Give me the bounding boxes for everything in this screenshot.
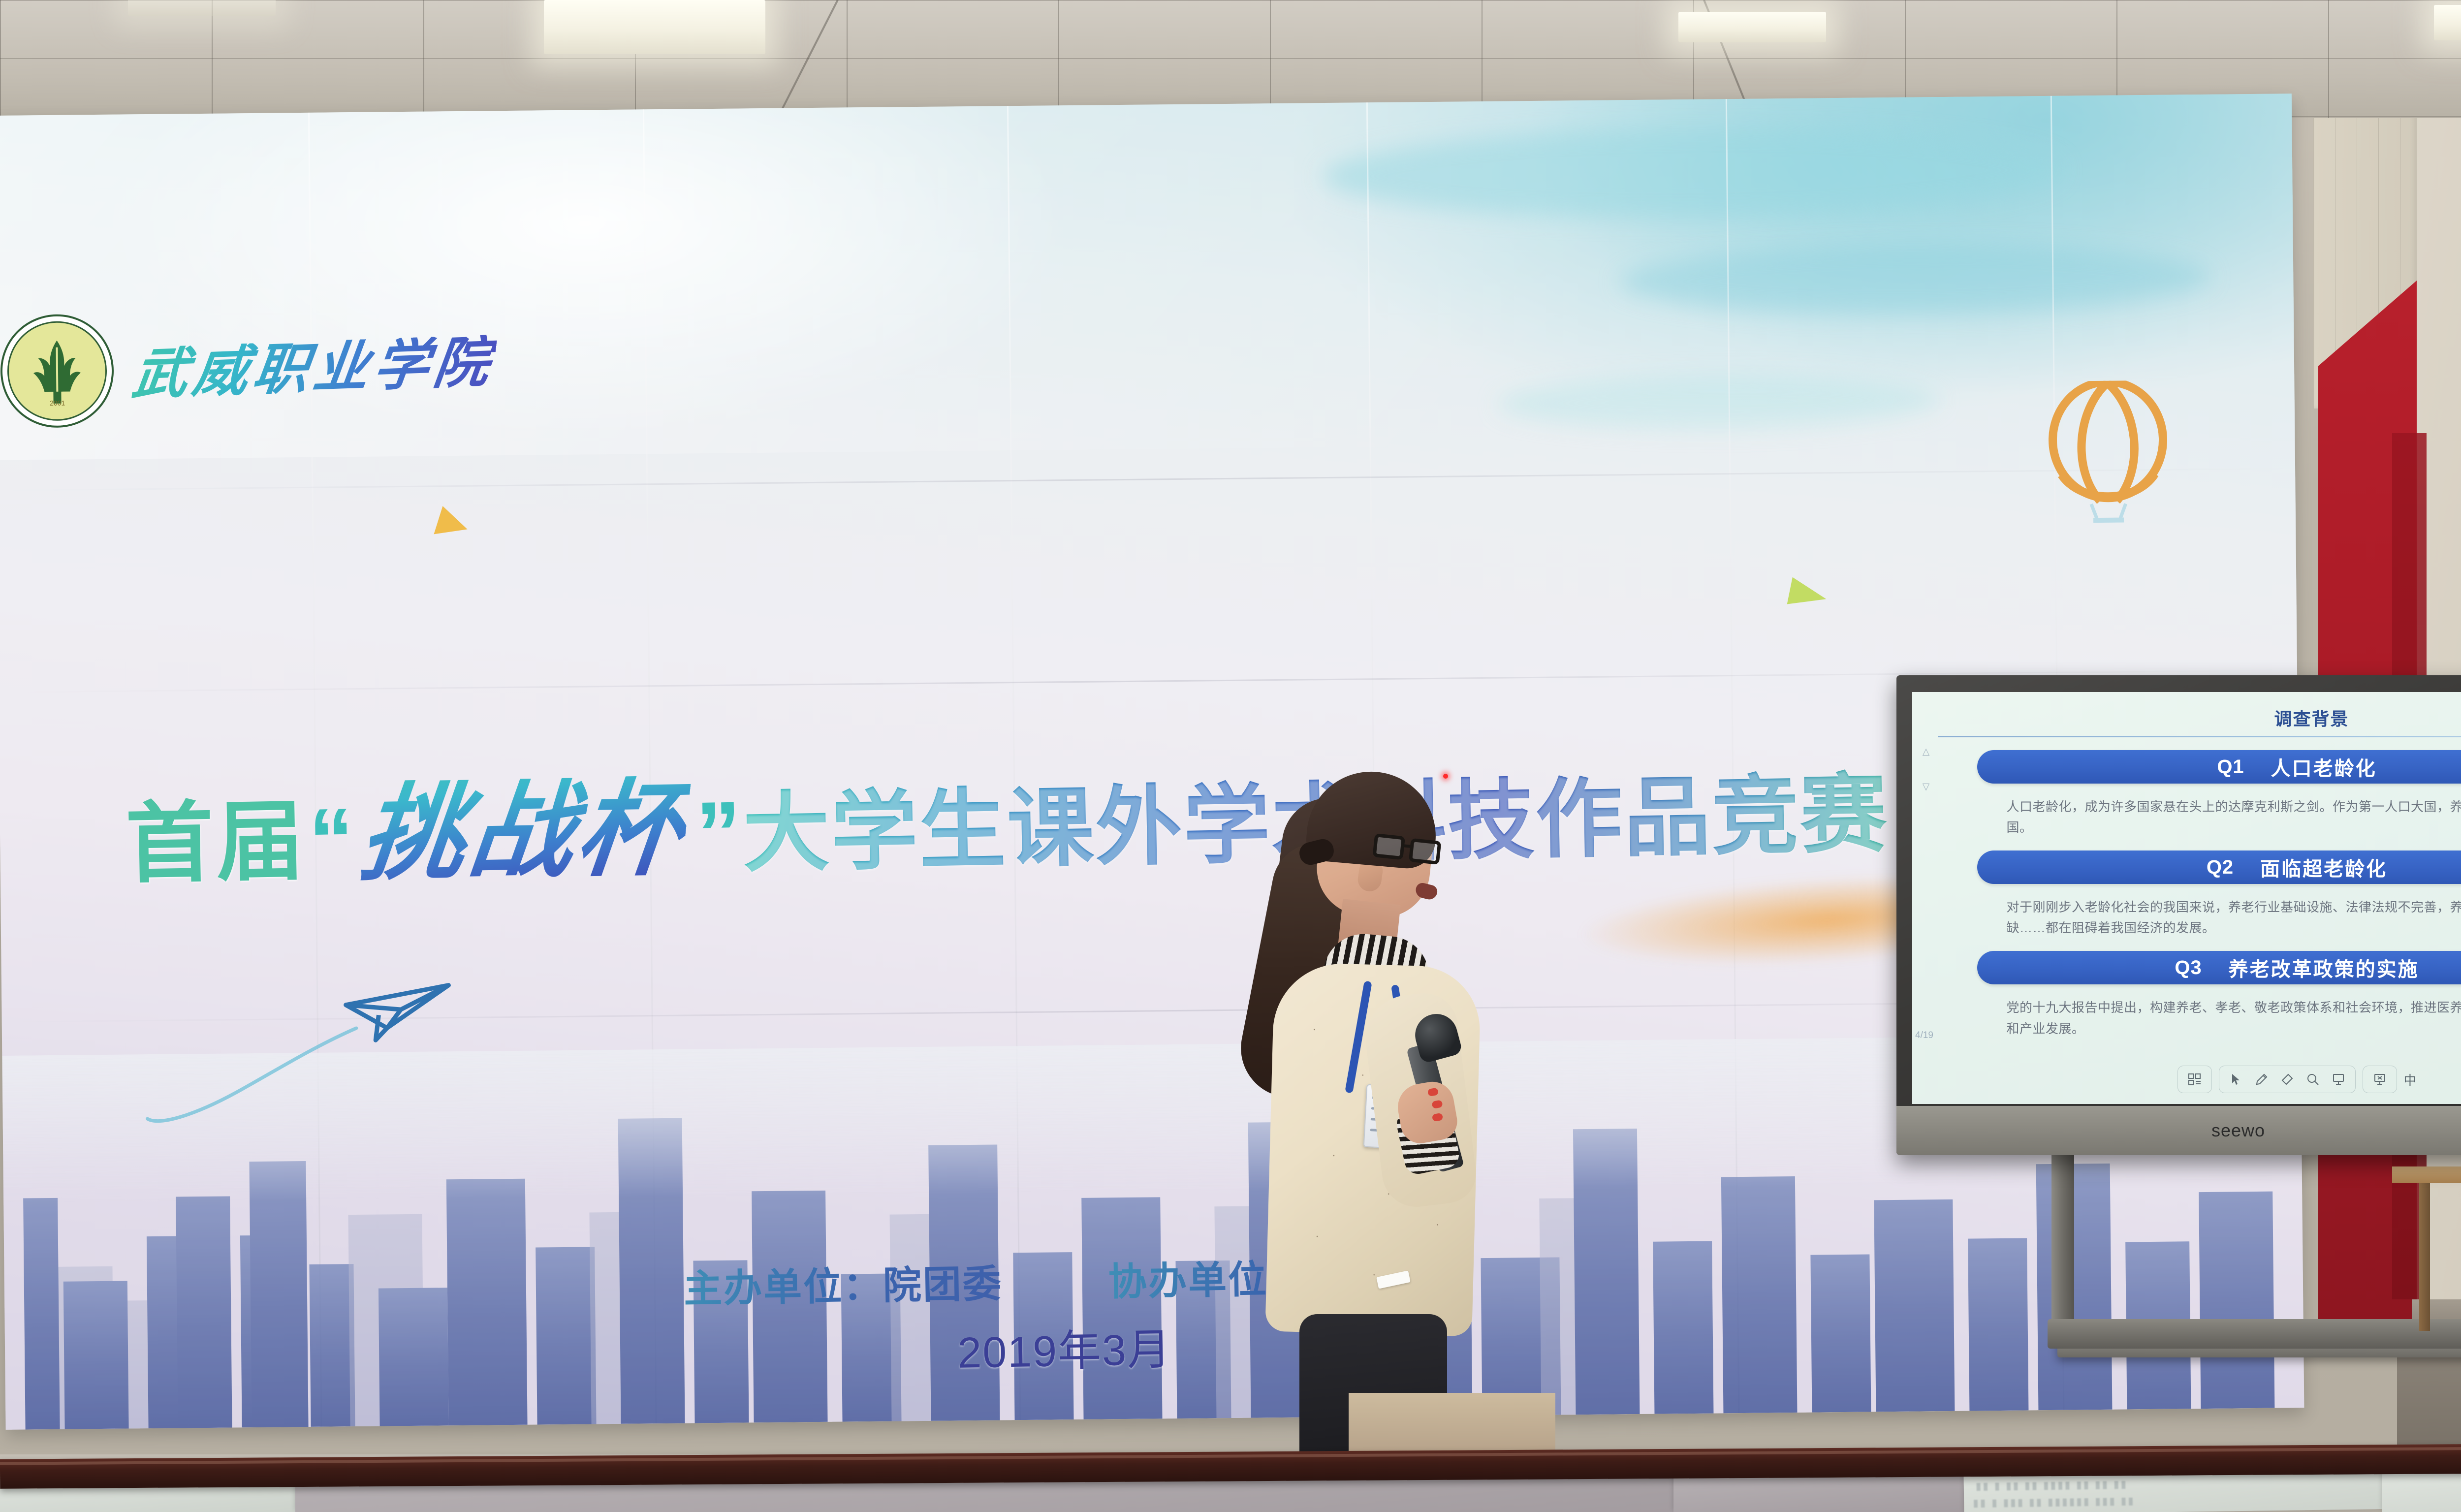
toolbar-exit-group[interactable]: [2362, 1066, 2397, 1093]
banner-title: 首届 “ 挑战杯 ” 大学生课外学术科技作品竞赛: [124, 723, 1889, 905]
slide-block-heading: Q2 面临超老龄化: [1977, 850, 2461, 884]
toolbar-menu-group[interactable]: [2177, 1066, 2211, 1093]
wheat-tree-icon: [27, 336, 87, 406]
magnifier-icon[interactable]: [2302, 1070, 2323, 1089]
banner-date: 2019年3月: [957, 1315, 1172, 1381]
block-number: Q2: [2207, 856, 2234, 879]
slide-page-indicator: 4/19: [1915, 1030, 1933, 1041]
triangle-icon: [434, 506, 472, 543]
slide-block-heading: Q1 人口老龄化: [1977, 750, 2461, 784]
ceiling-light: [128, 0, 276, 16]
hot-air-balloon-icon: [2041, 380, 2175, 524]
block-number: Q3: [2175, 957, 2202, 979]
grid-menu-icon[interactable]: [2183, 1070, 2205, 1089]
display-stand-base: [2048, 1319, 2461, 1349]
display-brand-label: seewo: [2211, 1120, 2265, 1141]
paper-plane-trail-icon: [145, 1020, 377, 1126]
pen-icon[interactable]: [2250, 1070, 2272, 1089]
interactive-display[interactable]: 调查背景 Q1 人口老龄化 人口老龄化，成为许多国家悬在头上的达摩克利斯之剑。作…: [1896, 675, 2461, 1155]
college-seal-icon: 武威职业学院 WUWEI OCCUPATIONAL COLLEGE 2001: [0, 314, 114, 428]
presentation-scene: 武威职业学院 WUWEI OCCUPATIONAL COLLEGE 2001 武…: [0, 0, 2461, 1512]
display-chin: seewo: [1896, 1106, 2461, 1155]
slide-title-underline: [1938, 736, 2461, 737]
laser-pointer-dot: [1443, 774, 1448, 779]
foreground-panel: [2382, 1474, 2461, 1512]
host-organization: 主办单位：院团委: [683, 1253, 1003, 1314]
seal-year: 2001: [3, 399, 112, 408]
eraser-icon[interactable]: [2276, 1070, 2298, 1089]
ceiling-light: [2434, 5, 2461, 40]
ceiling-light: [544, 0, 765, 54]
blurred-text-line: ▮▮ ▮ ▮▮ ▮▮ ▮▮▮▮ ▮▮ ▮▮ ▮▮: [1976, 1478, 2128, 1492]
whiteboard-icon[interactable]: [2327, 1070, 2349, 1089]
title-quote-open: “: [308, 787, 355, 892]
triangle-down-icon[interactable]: ▽: [1923, 781, 1930, 792]
triangle-up-icon[interactable]: △: [1923, 746, 1930, 757]
cursor-icon[interactable]: [2225, 1070, 2246, 1089]
title-highlight: 挑战杯: [354, 744, 695, 901]
toolbar-tools-group[interactable]: [2218, 1066, 2355, 1093]
side-table-top: [2392, 1166, 2461, 1183]
slide-toolbar[interactable]: 中: [2177, 1066, 2416, 1093]
blurred-text-line: ▮▮ ▮ ▮▮▮ ▮▮ ▮▮▮▮▮▮ ▮▮▮ ▮▮: [1973, 1495, 2135, 1510]
block-heading-text: 人口老龄化: [2271, 753, 2377, 781]
slide-block-heading: Q3 养老改革政策的实施: [1977, 951, 2461, 984]
foreground-panel: [1673, 1477, 1964, 1512]
slide-nav-sidebar[interactable]: △ ▽: [1916, 746, 1936, 792]
block-heading-text: 养老改革政策的实施: [2229, 953, 2419, 982]
exit-presentation-icon[interactable]: [2368, 1070, 2390, 1089]
presenter: 4: [1226, 768, 1531, 1457]
college-wordmark: 武威职业学院: [129, 335, 498, 403]
presentation-slide[interactable]: 调查背景 Q1 人口老龄化 人口老龄化，成为许多国家悬在头上的达摩克利斯之剑。作…: [1912, 692, 2461, 1104]
display-screen[interactable]: 调查背景 Q1 人口老龄化 人口老龄化，成为许多国家悬在头上的达摩克利斯之剑。作…: [1912, 692, 2461, 1104]
stage-floor: [1349, 1393, 1555, 1457]
title-quote-close: ”: [695, 781, 742, 885]
slide-block-body: 党的十九大报告中提出，构建养老、孝老、敬老政策体系和社会环境，推进医养结合，加快…: [2007, 997, 2461, 1039]
slide-block-body: 对于刚刚步入老龄化社会的我国来说，养老行业基础设施、法律法规不完善，养老行业护理…: [2007, 897, 2461, 938]
ime-indicator[interactable]: 中: [2403, 1071, 2416, 1089]
display-stand-column: [2051, 1147, 2074, 1339]
title-prefix: 首届: [125, 770, 308, 900]
college-logo: 武威职业学院 WUWEI OCCUPATIONAL COLLEGE 2001 武…: [0, 310, 494, 428]
paper-plane-icon: [338, 962, 464, 1048]
slide-block-body: 人口老龄化，成为许多国家悬在头上的达摩克利斯之剑。作为第一人口大国，养老问题同样…: [2007, 796, 2461, 838]
side-table-legs: [2414, 1183, 2461, 1331]
slide-title: 调查背景: [1967, 705, 2461, 730]
ceiling-light: [1678, 12, 1826, 42]
block-number: Q1: [2217, 756, 2244, 778]
block-heading-text: 面临超老龄化: [2260, 853, 2387, 882]
